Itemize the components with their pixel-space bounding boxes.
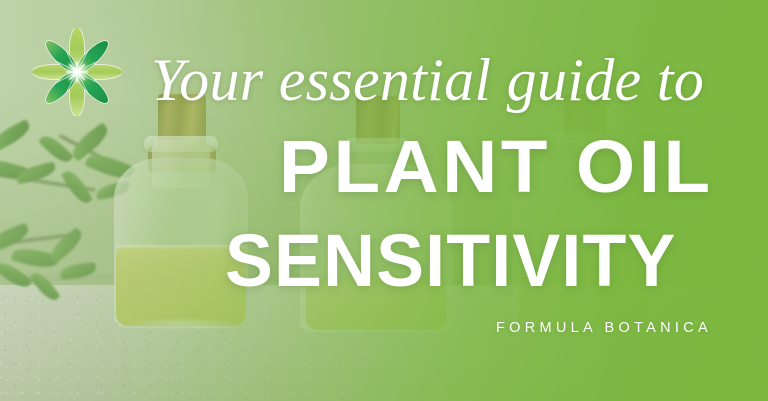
- plant-oil-sensitivity-banner: Your essential guide to PLANT OIL SENSIT…: [0, 0, 768, 401]
- brand-name: FORMULA BOTANICA: [496, 320, 712, 336]
- script-tagline: Your essential guide to: [151, 50, 704, 110]
- eight-petal-flower-icon: [33, 28, 121, 116]
- headline-line-1: PLANT OIL: [279, 130, 714, 204]
- headline-line-2: SENSITIVITY: [225, 224, 677, 298]
